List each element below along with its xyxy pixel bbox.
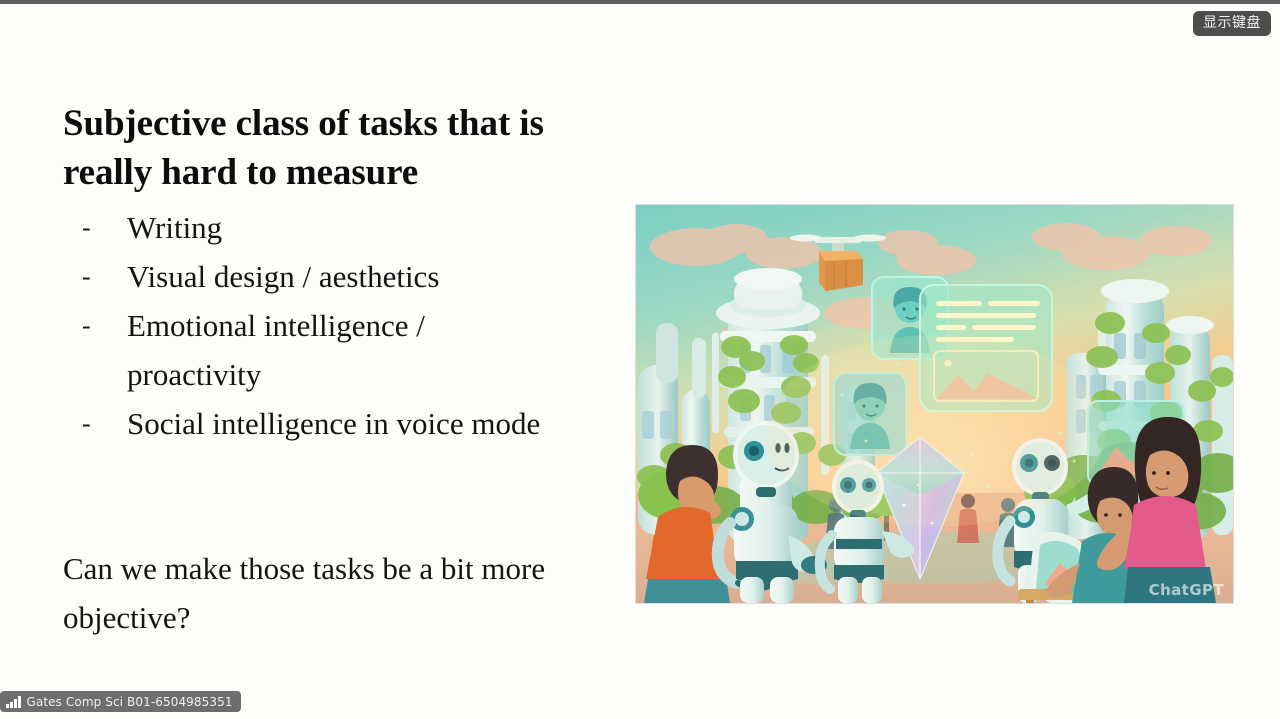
bullet-dash-icon: -: [63, 399, 127, 448]
presentation-slide: Subjective class of tasks that is really…: [0, 4, 1280, 690]
list-item: - Emotional intelligence / proactivity: [63, 301, 608, 399]
slide-title: Subjective class of tasks that is really…: [63, 99, 603, 197]
closing-question: Can we make those tasks be a bit more ob…: [63, 544, 603, 642]
slide-illustration: ChatGPT: [635, 204, 1234, 604]
slide-bullet-list: - Writing - Visual design / aesthetics -…: [63, 203, 608, 448]
wifi-status-chip[interactable]: Gates Comp Sci B01-6504985351: [0, 691, 241, 712]
list-item: - Social intelligence in voice mode: [63, 399, 608, 448]
show-keyboard-button[interactable]: 显示键盘: [1193, 11, 1271, 36]
solarpunk-city-illustration: [636, 205, 1233, 603]
slide-text-column: Subjective class of tasks that is really…: [63, 99, 608, 448]
list-item: - Visual design / aesthetics: [63, 252, 608, 301]
bullet-dash-icon: -: [63, 203, 127, 252]
bullet-text: Writing: [127, 203, 547, 252]
bullet-text: Social intelligence in voice mode: [127, 399, 547, 448]
bullet-dash-icon: -: [63, 252, 127, 301]
bullet-text: Emotional intelligence / proactivity: [127, 301, 547, 399]
wifi-signal-bars-icon: [6, 696, 21, 708]
status-bar: Gates Comp Sci B01-6504985351: [0, 690, 1280, 719]
bullet-dash-icon: -: [63, 301, 127, 350]
wifi-network-name: Gates Comp Sci B01-6504985351: [27, 695, 233, 709]
list-item: - Writing: [63, 203, 608, 252]
bullet-text: Visual design / aesthetics: [127, 252, 547, 301]
